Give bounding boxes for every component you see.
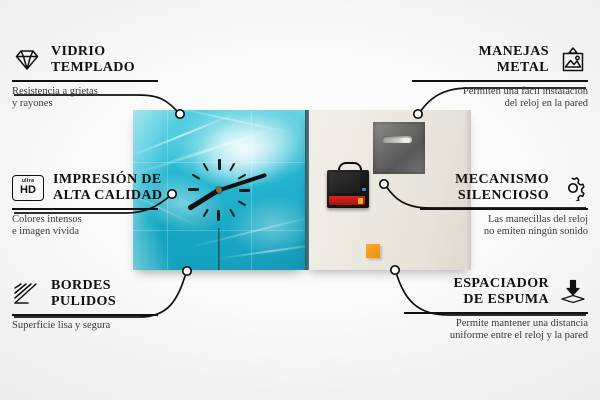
mechanism-panel (330, 173, 360, 193)
feature-description: Colores intensos e imagen vívida (12, 214, 158, 239)
feature-title-line1: MECANISMO (455, 172, 549, 188)
divider (12, 314, 158, 316)
feature-impresion-alta-calidad: ultra HD IMPRESIÓN DE ALTA CALIDAD Color… (12, 172, 158, 239)
mechanism-indicator (362, 188, 366, 191)
feature-description: Superficie lisa y segura (12, 320, 158, 333)
feature-title-line2: TEMPLADO (51, 60, 135, 76)
feature-manejas-metal: MANEJAS METAL Permiten una fácil instala… (412, 44, 588, 111)
feature-title-line1: MANEJAS (479, 44, 549, 60)
feature-mecanismo-silencioso: MECANISMO SILENCIOSO Las manecillas del … (420, 172, 588, 239)
clock-mechanism (327, 168, 369, 208)
glass-pane-line (167, 110, 168, 270)
feature-title-line1: BORDES (51, 278, 116, 294)
panel-edge (305, 110, 309, 270)
clock-center-cap (216, 187, 222, 193)
feature-espaciador-espuma: ESPACIADOR DE ESPUMA Permite mantener un… (404, 276, 588, 343)
divider (12, 80, 158, 82)
feature-title-line2: METAL (479, 60, 549, 76)
feature-description: Permiten una fácil instalación del reloj… (412, 86, 588, 111)
diamond-icon (12, 47, 42, 73)
gear-icon (558, 175, 588, 201)
metal-hanger-plate (373, 122, 425, 174)
feature-title-line1: IMPRESIÓN DE (53, 172, 162, 188)
feature-description: Las manecillas del reloj no emiten ningú… (420, 214, 588, 239)
battery (329, 196, 365, 205)
foam-spacer-arrow-icon (558, 279, 588, 305)
foam-spacer (366, 244, 380, 258)
hanger-slot (382, 136, 412, 143)
mechanism-body (327, 170, 369, 208)
feature-title-line2: PULIDOS (51, 294, 116, 310)
divider (12, 208, 158, 210)
feature-title-line1: ESPACIADOR (453, 276, 549, 292)
infographic-canvas: VIDRIO TEMPLADO Resistencia a grietas y … (0, 0, 600, 400)
divider (412, 80, 588, 82)
feature-vidrio-templado: VIDRIO TEMPLADO Resistencia a grietas y … (12, 44, 158, 111)
battery-terminal (358, 198, 363, 204)
divider (420, 208, 588, 210)
feature-title-line1: VIDRIO (51, 44, 135, 60)
picture-hanger-icon (558, 47, 588, 73)
polished-edges-icon (12, 281, 42, 307)
feature-bordes-pulidos: BORDES PULIDOS Superficie lisa y segura (12, 278, 158, 332)
ultra-hd-badge-icon: ultra HD (12, 175, 44, 201)
glass-pane-line (251, 110, 252, 270)
feature-description: Permite mantener una distancia uniforme … (404, 318, 588, 343)
clock-second-hand (218, 228, 219, 270)
feature-title-line2: SILENCIOSO (455, 188, 549, 204)
divider (404, 312, 588, 314)
feature-title-line2: DE ESPUMA (453, 292, 549, 308)
hd-badge-large-label: HD (20, 185, 36, 196)
feature-title-line2: ALTA CALIDAD (53, 188, 162, 204)
feature-description: Resistencia a grietas y rayones (12, 86, 158, 111)
